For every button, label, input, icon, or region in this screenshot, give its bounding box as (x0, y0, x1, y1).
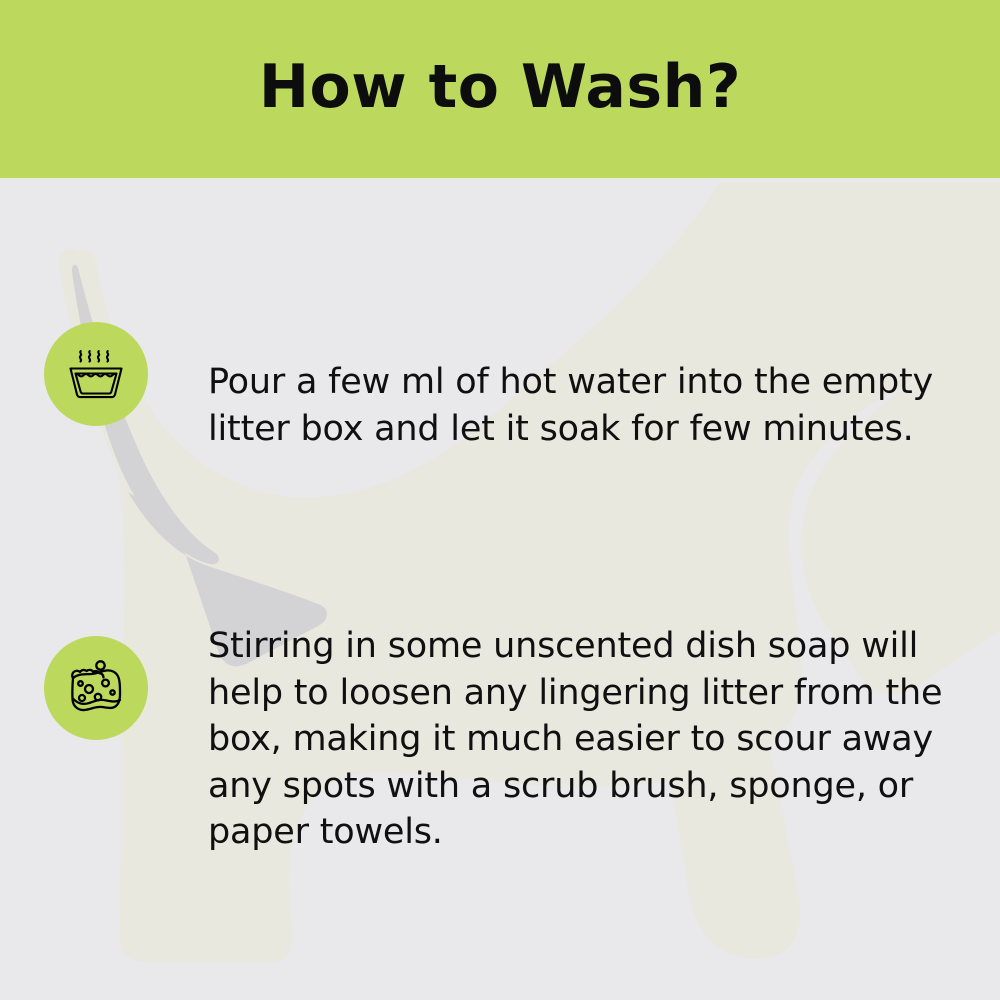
step-item-1: Pour a few ml of hot water into the empt… (44, 322, 964, 487)
step-item-2: Stirring in some unscented dish soap wil… (44, 588, 964, 891)
page-title: How to Wash? (259, 57, 741, 121)
step-1-icon-badge (44, 322, 148, 426)
wash-tub-steam-icon (64, 342, 128, 406)
steps-list: Pour a few ml of hot water into the empt… (0, 178, 1000, 1000)
sponge-suds-icon (64, 656, 128, 720)
header-band: How to Wash? (0, 0, 1000, 178)
step-2-icon-badge (44, 636, 148, 740)
step-1-text: Pour a few ml of hot water into the empt… (208, 357, 964, 452)
poster-canvas: How to Wash? (0, 0, 1000, 1000)
step-2-text: Stirring in some unscented dish soap wil… (208, 623, 964, 856)
